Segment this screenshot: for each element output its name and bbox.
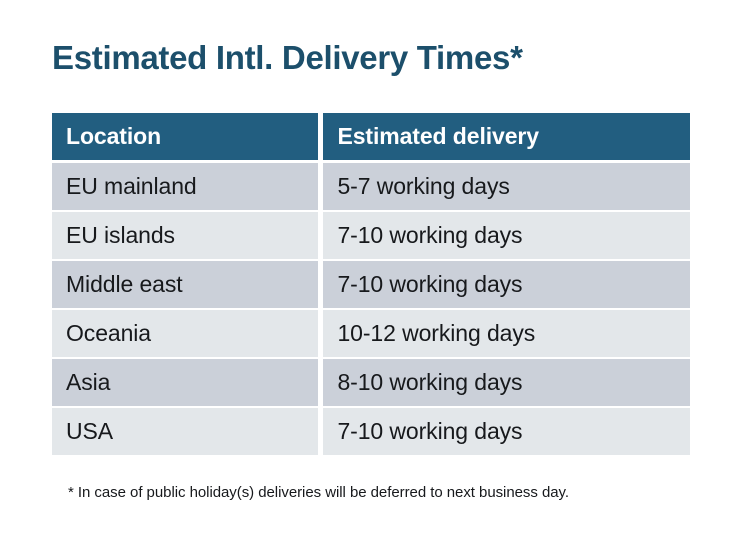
cell-estimated-delivery: 7-10 working days <box>323 261 690 310</box>
footnote-text: * In case of public holiday(s) deliverie… <box>68 482 569 504</box>
column-header-estimated-delivery: Estimated delivery <box>323 113 690 163</box>
table-header-row: Location Estimated delivery <box>52 113 690 163</box>
table-row: USA 7-10 working days <box>52 408 690 455</box>
table-row: Middle east 7-10 working days <box>52 261 690 310</box>
cell-location: Asia <box>52 359 323 408</box>
table-header: Location Estimated delivery <box>52 113 690 163</box>
cell-location: USA <box>52 408 323 455</box>
table-row: EU islands 7-10 working days <box>52 212 690 261</box>
cell-estimated-delivery: 8-10 working days <box>323 359 690 408</box>
cell-estimated-delivery: 5-7 working days <box>323 163 690 212</box>
cell-estimated-delivery: 10-12 working days <box>323 310 690 359</box>
cell-location: Middle east <box>52 261 323 310</box>
cell-location: EU islands <box>52 212 323 261</box>
delivery-times-page: Estimated Intl. Delivery Times* Location… <box>0 0 745 536</box>
cell-estimated-delivery: 7-10 working days <box>323 212 690 261</box>
cell-location: Oceania <box>52 310 323 359</box>
estimated-delivery-times-table: Location Estimated delivery EU mainland … <box>52 113 690 455</box>
table-row: EU mainland 5-7 working days <box>52 163 690 212</box>
table-row: Asia 8-10 working days <box>52 359 690 408</box>
table-row: Oceania 10-12 working days <box>52 310 690 359</box>
page-title: Estimated Intl. Delivery Times* <box>52 36 523 80</box>
cell-location: EU mainland <box>52 163 323 212</box>
column-header-location: Location <box>52 113 323 163</box>
table-body: EU mainland 5-7 working days EU islands … <box>52 163 690 455</box>
cell-estimated-delivery: 7-10 working days <box>323 408 690 455</box>
